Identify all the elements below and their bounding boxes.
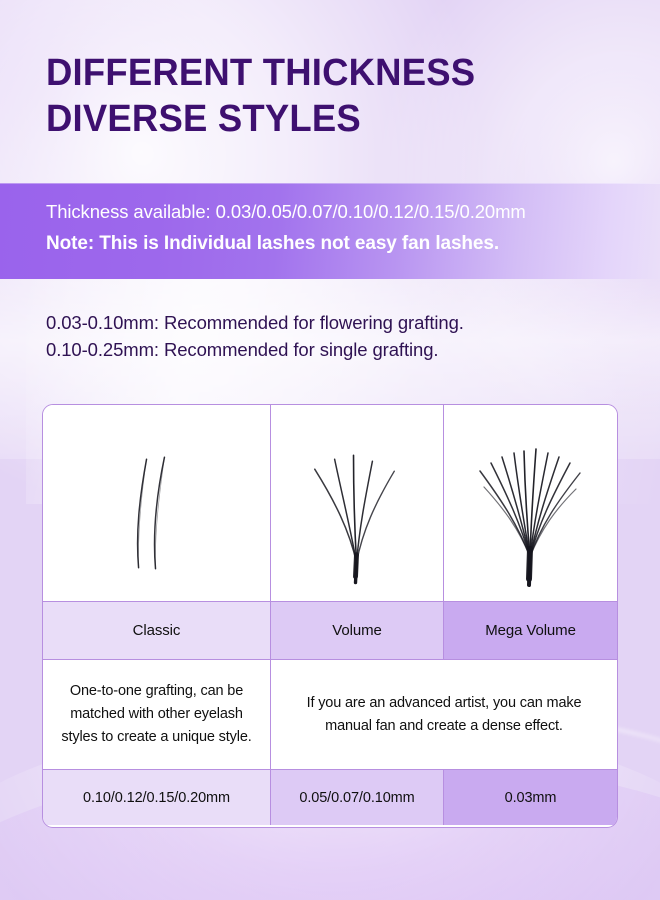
cell-illustration-volume: [271, 405, 444, 601]
page-title: DIFFERENT THICKNESS DIVERSE STYLES: [46, 50, 626, 142]
page-title-line-1: DIFFERENT THICKNESS: [46, 50, 603, 96]
description-classic: One-to-one grafting, can be matched with…: [43, 680, 270, 749]
banner-note-text: Note: This is Individual lashes not easy…: [46, 233, 499, 255]
cell-thickness-volume: 0.05/0.07/0.10mm: [271, 770, 444, 825]
volume-fan-illustration: [271, 405, 443, 601]
cell-thickness-mega-volume: 0.03mm: [444, 770, 617, 825]
lash-comparison-table: Classic Volume Mega Volume One-to-one gr…: [42, 404, 618, 828]
label-volume: Volume: [332, 622, 381, 639]
page-title-line-2: DIVERSE STYLES: [46, 96, 603, 142]
table-row-thickness: 0.10/0.12/0.15/0.20mm 0.05/0.07/0.10mm 0…: [43, 769, 617, 825]
cell-description-classic: One-to-one grafting, can be matched with…: [43, 660, 271, 769]
cell-illustration-classic: [43, 405, 271, 601]
recommendation-list: 0.03-0.10mm: Recommended for flowering g…: [46, 309, 464, 363]
table-row-labels: Classic Volume Mega Volume: [43, 601, 617, 659]
description-volume-mega: If you are an advanced artist, you can m…: [271, 692, 617, 738]
thickness-mega-volume: 0.03mm: [505, 790, 557, 806]
cell-label-mega-volume: Mega Volume: [444, 602, 617, 659]
infographic-page: DIFFERENT THICKNESS DIVERSE STYLES Thick…: [0, 0, 660, 900]
recommendation-item-single: 0.10-0.25mm: Recommended for single graf…: [46, 336, 464, 363]
thickness-classic: 0.10/0.12/0.15/0.20mm: [83, 790, 230, 806]
thickness-volume: 0.05/0.07/0.10mm: [299, 790, 414, 806]
cell-label-classic: Classic: [43, 602, 271, 659]
mega-volume-fan-illustration: [444, 405, 617, 601]
thickness-available-text: Thickness available: 0.03/0.05/0.07/0.10…: [46, 201, 526, 223]
classic-lash-illustration: [43, 405, 270, 601]
cell-illustration-mega-volume: [444, 405, 617, 601]
cell-description-volume-mega: If you are an advanced artist, you can m…: [271, 660, 617, 769]
label-mega-volume: Mega Volume: [485, 622, 576, 639]
thickness-banner: Thickness available: 0.03/0.05/0.07/0.10…: [0, 183, 660, 279]
cell-label-volume: Volume: [271, 602, 444, 659]
table-row-descriptions: One-to-one grafting, can be matched with…: [43, 659, 617, 769]
cell-thickness-classic: 0.10/0.12/0.15/0.20mm: [43, 770, 271, 825]
recommendation-item-flowering: 0.03-0.10mm: Recommended for flowering g…: [46, 309, 464, 336]
label-classic: Classic: [133, 622, 181, 639]
table-row-illustrations: [43, 405, 617, 601]
